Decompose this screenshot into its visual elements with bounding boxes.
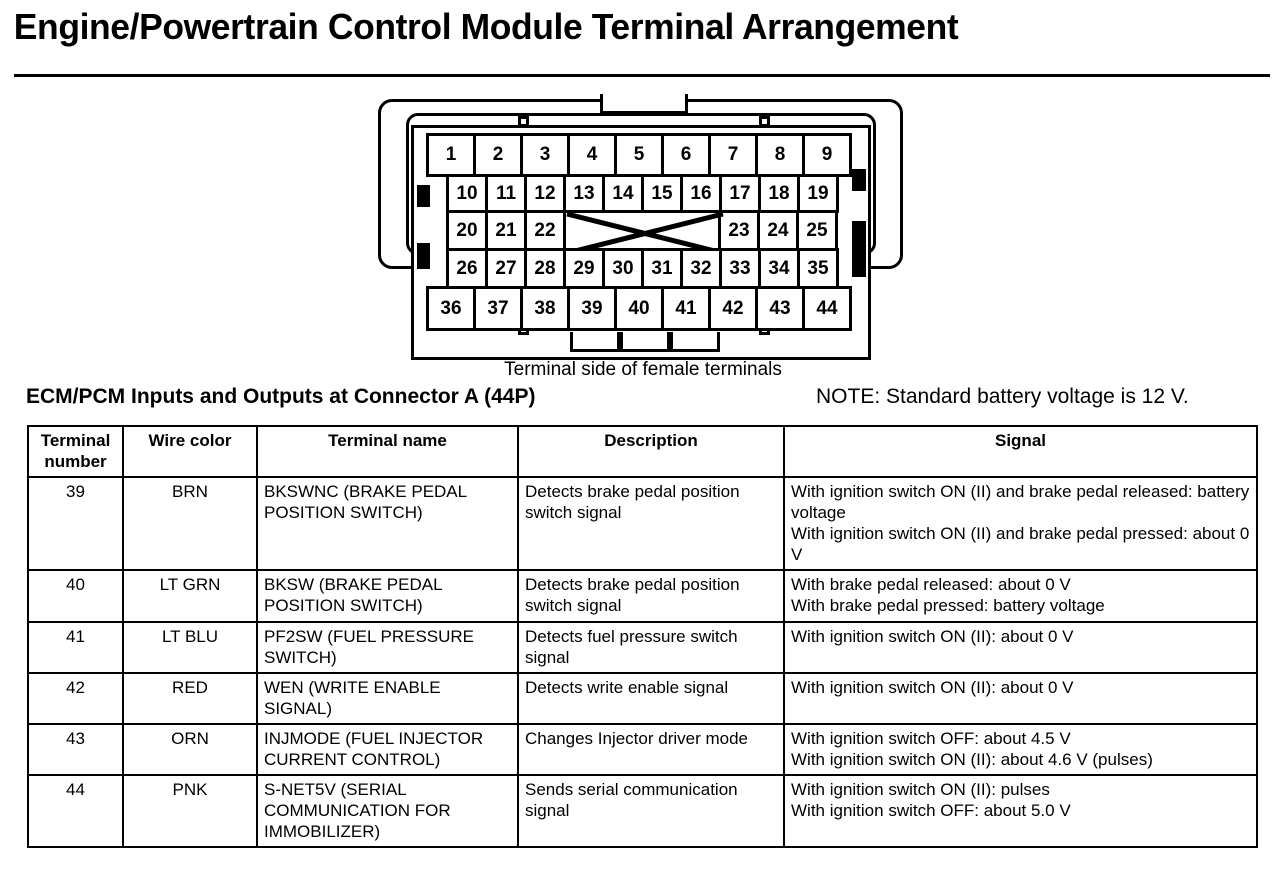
page-title: Engine/Powertrain Control Module Termina… — [0, 0, 1267, 50]
connector-latch-gap — [603, 91, 685, 101]
cell-terminal-number: 41 — [28, 622, 123, 673]
pin-row-c: 202122232425 — [446, 210, 835, 251]
pin-37: 37 — [473, 286, 523, 331]
pin-36: 36 — [426, 286, 476, 331]
signal-line: With ignition switch OFF: about 5.0 V — [791, 800, 1250, 821]
connector-nub-top-left — [518, 116, 529, 127]
connector-tab-1 — [570, 332, 620, 352]
pin-15: 15 — [641, 174, 683, 213]
header-wire-color: Wire color — [123, 426, 257, 477]
signal-line: With ignition switch ON (II): about 4.6 … — [791, 749, 1250, 770]
cell-wire-color: LT BLU — [123, 622, 257, 673]
pin-13: 13 — [563, 174, 605, 213]
pin-blank-crossed — [563, 210, 721, 251]
header-terminal-number-line2: number — [35, 451, 116, 472]
diagram-caption: Terminal side of female terminals — [0, 359, 1286, 381]
cell-terminal-name: INJMODE (FUEL INJECTOR CURRENT CONTROL) — [257, 724, 518, 775]
connector-key-left-lower — [417, 243, 430, 269]
cell-terminal-number: 44 — [28, 775, 123, 847]
cell-signal: With ignition switch OFF: about 4.5 VWit… — [784, 724, 1257, 775]
connector-key-right-middle — [852, 221, 866, 255]
pin-43: 43 — [755, 286, 805, 331]
connector-nub-top-right — [759, 116, 770, 127]
cell-terminal-number: 43 — [28, 724, 123, 775]
pin-18: 18 — [758, 174, 800, 213]
cell-terminal-number: 39 — [28, 477, 123, 570]
terminal-table: Terminal number Wire color Terminal name… — [27, 425, 1258, 848]
cell-wire-color: LT GRN — [123, 570, 257, 622]
cell-wire-color: PNK — [123, 775, 257, 847]
pin-44: 44 — [802, 286, 852, 331]
signal-line: With ignition switch ON (II) and brake p… — [791, 481, 1250, 523]
section-header: ECM/PCM Inputs and Outputs at Connector … — [0, 385, 1286, 419]
table-row: 44PNKS-NET5V (SERIAL COMMUNICATION FOR I… — [28, 775, 1257, 847]
cell-terminal-number: 40 — [28, 570, 123, 622]
signal-line: With brake pedal pressed: battery voltag… — [791, 595, 1250, 616]
pin-8: 8 — [755, 133, 805, 177]
table-row: 43ORNINJMODE (FUEL INJECTOR CURRENT CONT… — [28, 724, 1257, 775]
cell-description: Detects write enable signal — [518, 673, 784, 724]
pin-34: 34 — [758, 248, 800, 289]
pin-27: 27 — [485, 248, 527, 289]
pin-11: 11 — [485, 174, 527, 213]
cell-wire-color: RED — [123, 673, 257, 724]
cell-signal: With ignition switch ON (II): about 0 V — [784, 673, 1257, 724]
pin-22: 22 — [524, 210, 566, 251]
header-terminal-number-line1: Terminal — [35, 430, 116, 451]
signal-line: With ignition switch ON (II): about 0 V — [791, 677, 1250, 698]
pin-24: 24 — [757, 210, 799, 251]
connector-tab-2 — [620, 332, 670, 352]
cell-description: Changes Injector driver mode — [518, 724, 784, 775]
pin-3: 3 — [520, 133, 570, 177]
connector-body: 123456789 10111213141516171819 202122232… — [378, 85, 908, 357]
cell-signal: With ignition switch ON (II): about 0 V — [784, 622, 1257, 673]
signal-line: With ignition switch ON (II): pulses — [791, 779, 1250, 800]
pin-12: 12 — [524, 174, 566, 213]
cell-wire-color: BRN — [123, 477, 257, 570]
pin-41: 41 — [661, 286, 711, 331]
header-terminal-name: Terminal name — [257, 426, 518, 477]
pin-39: 39 — [567, 286, 617, 331]
section-note: NOTE: Standard battery voltage is 12 V. — [816, 385, 1189, 409]
pin-5: 5 — [614, 133, 664, 177]
pin-38: 38 — [520, 286, 570, 331]
pin-7: 7 — [708, 133, 758, 177]
pin-10: 10 — [446, 174, 488, 213]
pin-row-d: 26272829303132333435 — [446, 248, 836, 289]
connector-key-right-lower — [852, 255, 866, 277]
pin-23: 23 — [718, 210, 760, 251]
cell-wire-color: ORN — [123, 724, 257, 775]
pin-29: 29 — [563, 248, 605, 289]
connector-key-right-upper — [852, 169, 866, 191]
pin-28: 28 — [524, 248, 566, 289]
cell-terminal-name: S-NET5V (SERIAL COMMUNICATION FOR IMMOBI… — [257, 775, 518, 847]
header-description: Description — [518, 426, 784, 477]
section-heading: ECM/PCM Inputs and Outputs at Connector … — [26, 385, 535, 409]
cell-terminal-name: WEN (WRITE ENABLE SIGNAL) — [257, 673, 518, 724]
pin-26: 26 — [446, 248, 488, 289]
table-row: 40LT GRNBKSW (BRAKE PEDAL POSITION SWITC… — [28, 570, 1257, 622]
pin-19: 19 — [797, 174, 839, 213]
pin-42: 42 — [708, 286, 758, 331]
cell-terminal-name: BKSWNC (BRAKE PEDAL POSITION SWITCH) — [257, 477, 518, 570]
table-row: 41LT BLUPF2SW (FUEL PRESSURE SWITCH)Dete… — [28, 622, 1257, 673]
signal-line: With ignition switch OFF: about 4.5 V — [791, 728, 1250, 749]
pin-30: 30 — [602, 248, 644, 289]
pin-row-e: 363738394041424344 — [426, 286, 849, 331]
connector-diagram: 123456789 10111213141516171819 202122232… — [0, 77, 1286, 377]
pin-6: 6 — [661, 133, 711, 177]
table-header-row: Terminal number Wire color Terminal name… — [28, 426, 1257, 477]
cell-signal: With ignition switch ON (II): pulsesWith… — [784, 775, 1257, 847]
signal-line: With brake pedal released: about 0 V — [791, 574, 1250, 595]
header-terminal-number: Terminal number — [28, 426, 123, 477]
cell-description: Sends serial communication signal — [518, 775, 784, 847]
pin-40: 40 — [614, 286, 664, 331]
pin-4: 4 — [567, 133, 617, 177]
signal-line: With ignition switch ON (II) and brake p… — [791, 523, 1250, 565]
pin-14: 14 — [602, 174, 644, 213]
pin-row-b: 10111213141516171819 — [446, 174, 836, 213]
pin-17: 17 — [719, 174, 761, 213]
pin-35: 35 — [797, 248, 839, 289]
pin-25: 25 — [796, 210, 838, 251]
header-signal: Signal — [784, 426, 1257, 477]
pin-33: 33 — [719, 248, 761, 289]
cell-terminal-name: BKSW (BRAKE PEDAL POSITION SWITCH) — [257, 570, 518, 622]
pin-row-a: 123456789 — [426, 133, 849, 177]
cell-terminal-number: 42 — [28, 673, 123, 724]
table-body: 39BRNBKSWNC (BRAKE PEDAL POSITION SWITCH… — [28, 477, 1257, 847]
pin-20: 20 — [446, 210, 488, 251]
pin-9: 9 — [802, 133, 852, 177]
pin-16: 16 — [680, 174, 722, 213]
pin-32: 32 — [680, 248, 722, 289]
cell-description: Detects fuel pressure switch signal — [518, 622, 784, 673]
table-row: 42REDWEN (WRITE ENABLE SIGNAL)Detects wr… — [28, 673, 1257, 724]
cell-description: Detects brake pedal position switch sign… — [518, 477, 784, 570]
cell-signal: With brake pedal released: about 0 VWith… — [784, 570, 1257, 622]
pin-2: 2 — [473, 133, 523, 177]
cell-terminal-name: PF2SW (FUEL PRESSURE SWITCH) — [257, 622, 518, 673]
signal-line: With ignition switch ON (II): about 0 V — [791, 626, 1250, 647]
cell-signal: With ignition switch ON (II) and brake p… — [784, 477, 1257, 570]
pin-1: 1 — [426, 133, 476, 177]
pin-31: 31 — [641, 248, 683, 289]
pin-21: 21 — [485, 210, 527, 251]
table-row: 39BRNBKSWNC (BRAKE PEDAL POSITION SWITCH… — [28, 477, 1257, 570]
connector-tab-3 — [670, 332, 720, 352]
cell-description: Detects brake pedal position switch sign… — [518, 570, 784, 622]
connector-key-left-upper — [417, 185, 430, 207]
